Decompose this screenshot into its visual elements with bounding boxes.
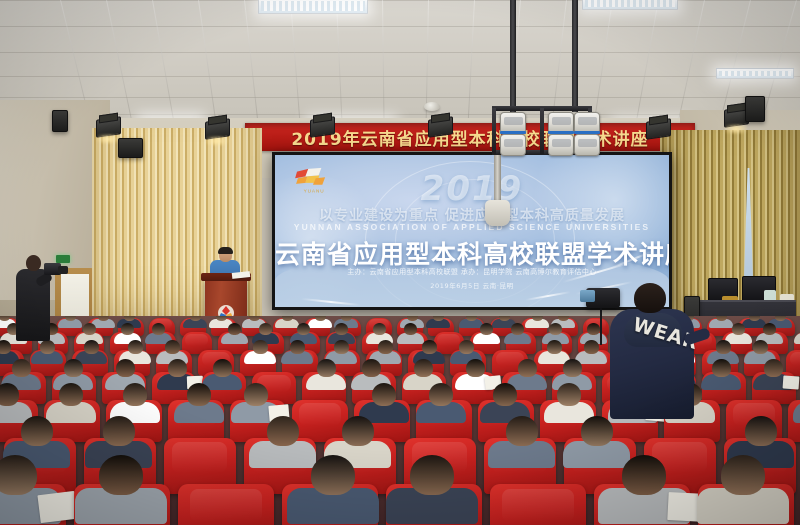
audience-member-head (216, 316, 227, 321)
truss-bar (540, 108, 544, 154)
light-indicator-strip (500, 131, 526, 134)
ceiling-speaker (745, 96, 765, 122)
audience-member-head (414, 359, 433, 377)
audience-member-head (499, 316, 510, 321)
audience-member-head (716, 340, 731, 354)
moving-head-light (500, 134, 526, 156)
audience-member-head (168, 359, 187, 377)
truss-bar (492, 108, 496, 154)
audience-member-head (98, 316, 109, 321)
truss-pole (572, 0, 578, 112)
audience-member-head (584, 340, 599, 354)
audience-member-head (290, 340, 305, 354)
par-can-beam (206, 136, 228, 146)
audience-member-head (259, 323, 272, 335)
camera-lens (58, 266, 68, 274)
audience-member-head (459, 340, 474, 354)
audience-member-head (116, 359, 135, 377)
audience-member-head (64, 359, 83, 377)
ceiling-speaker (52, 110, 68, 132)
par-can-light (310, 116, 335, 138)
audience-member-head (373, 323, 386, 335)
audience-member-head (0, 383, 19, 406)
audience-member-head (334, 340, 349, 354)
audience-member-head (124, 316, 135, 321)
screen-english-line: YUNNAN ASSOCIATION OF APPLIED SCIENCE UN… (275, 222, 669, 232)
audience-member-head (581, 416, 613, 446)
audience-member-head (341, 316, 352, 321)
audience-member-head (506, 416, 538, 446)
auditorium-photo: 2019年云南省应用型本科高校联盟学术讲座 ♯ (0, 0, 800, 525)
smoke-detector (424, 102, 440, 111)
camera-flip-screen (580, 290, 595, 302)
audience-member-head (763, 323, 776, 335)
audience-member-head (297, 323, 310, 335)
audience-member-head (311, 455, 355, 495)
audience-member-head (244, 383, 268, 406)
audience-member-head (0, 340, 11, 354)
audience-member-head (407, 316, 418, 321)
audience-member-head (422, 340, 437, 354)
audience-member-head (187, 383, 211, 406)
ceiling-projector (485, 200, 510, 226)
emergency-exit-icon (56, 255, 70, 263)
audience-member-head (121, 323, 134, 335)
audience-member-head (40, 340, 55, 354)
audience-member-head (532, 316, 543, 321)
audience-member-head (190, 316, 201, 321)
audience-member-head (753, 340, 768, 354)
press-photographer (14, 255, 54, 341)
audience-member-head (123, 383, 147, 406)
handout-paper (38, 491, 79, 523)
photographer-head (26, 255, 41, 271)
audience-member-head (563, 359, 582, 377)
audience-member-head (557, 383, 581, 406)
screen-hosts-line: 主办：云南省应用型本科高校联盟 承办：昆明学院 云南高博尔教育评估中心 (275, 267, 669, 277)
audience-member-head (228, 323, 241, 335)
screen-main-title: 云南省应用型本科高校联盟学术讲座 (275, 235, 669, 271)
audience-member-head (0, 316, 10, 321)
audience-member-head (315, 316, 326, 321)
auditorium-seat[interactable] (490, 484, 586, 525)
audience-member-head (12, 359, 31, 377)
screen-year-watermark: 2019 (275, 169, 669, 209)
audience-member-head (317, 359, 336, 377)
audience-member-head (65, 316, 76, 321)
audience-member-head (59, 383, 83, 406)
audience-member-head (558, 316, 569, 321)
audience-member-head (342, 416, 374, 446)
audience-member-head (622, 455, 666, 495)
audience-member-head (587, 323, 600, 335)
par-can-beam (725, 124, 747, 134)
audience-member-head (99, 455, 143, 495)
audience-member-head (547, 340, 562, 354)
audience-member-head (549, 323, 562, 335)
audience-member-head (267, 416, 299, 446)
audience-member-head (410, 455, 454, 495)
audience-member-head (466, 316, 477, 321)
audience-member-head (429, 383, 453, 406)
audience-member-head (0, 455, 37, 495)
audience-member-head (511, 323, 524, 335)
audience-member-head (128, 340, 143, 354)
audience-member-head (716, 316, 727, 321)
audience-member-head (335, 323, 348, 335)
audience-member-head (165, 340, 180, 354)
ceiling-panel-light (716, 68, 794, 79)
audience-member-head (362, 359, 381, 377)
truss-pole (510, 0, 516, 112)
audience-member-head (433, 316, 444, 321)
audience-member-head (712, 359, 731, 377)
light-indicator-strip (574, 131, 600, 134)
audience-member-head (721, 455, 765, 495)
audience-member-head (480, 323, 493, 335)
audience-member-head (253, 340, 268, 354)
handout-paper (783, 376, 800, 390)
audience-member-head (466, 359, 485, 377)
audience-member-head (518, 359, 537, 377)
audience-member-head (493, 383, 517, 406)
videographer-head (634, 283, 666, 313)
audience-member-head (749, 316, 760, 321)
audience-member-head (83, 323, 96, 335)
audience-member-head (745, 416, 777, 446)
audience-member-head (378, 340, 393, 354)
audience-member-head (282, 316, 293, 321)
audience-member-head (775, 316, 786, 321)
ceiling-speaker (118, 138, 143, 158)
moving-head-light (548, 134, 574, 156)
audience-member-head (764, 359, 783, 377)
projector-mount-pole (494, 152, 501, 204)
audience-member-head (103, 416, 135, 446)
audience-member-head (404, 323, 417, 335)
ceiling-panel-light (258, 0, 368, 14)
audience-member-head (213, 359, 232, 377)
audience-member-head (84, 340, 99, 354)
light-indicator-strip (548, 131, 574, 134)
camera-tripod (600, 305, 602, 345)
ceiling-panel-light (582, 0, 678, 10)
audience-member-head (732, 323, 745, 335)
par-can-light (646, 118, 671, 140)
standing-videographer: WEAR (610, 283, 694, 418)
auditorium-seat[interactable] (178, 484, 274, 525)
moving-head-light (574, 134, 600, 156)
presenter-hair (218, 247, 233, 254)
audience-member-head (372, 383, 396, 406)
audience-member-head (152, 323, 165, 335)
auditorium-seat[interactable] (292, 400, 348, 442)
audience-member-head (21, 416, 53, 446)
par-can-light (428, 116, 453, 138)
par-can-beam (97, 134, 119, 144)
audience-member-head (249, 316, 260, 321)
